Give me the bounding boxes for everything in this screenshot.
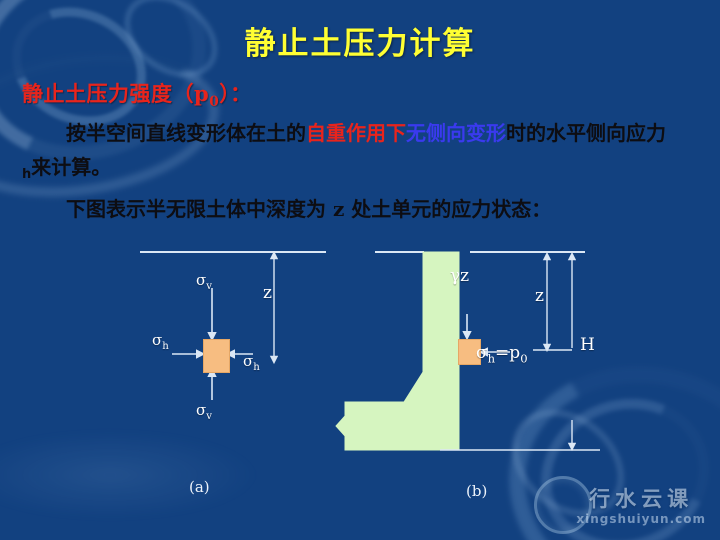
sigma-h-right-base: σ (243, 352, 253, 370)
section-heading: 静止土压力强度（p0）： (22, 78, 252, 110)
p-subscript-0: 0 (520, 351, 527, 365)
p1-part5: 来计算。 (31, 155, 111, 179)
depth-label-a: z (263, 283, 272, 303)
heading-prefix: 静止土压力强度（ (22, 82, 194, 106)
heading-suffix: ）： (219, 82, 252, 106)
slide-title: 静止土压力计算 (0, 18, 720, 63)
gamma-z-label: γz (450, 266, 469, 286)
caption-b: (b) (466, 482, 487, 500)
watermark-domain-text: xingshuiyun.com (576, 512, 706, 526)
p2-variable-z: z (333, 197, 344, 221)
body-text-block: 按半空间直线变形体在土的自重作用下无侧向变形时的水平侧向应力h来计算。 下图表示… (22, 116, 706, 226)
p0-symbol: p0 (194, 81, 219, 106)
sigma-v-top-base: σ (196, 271, 206, 289)
equals-p: =p (495, 343, 520, 363)
figure-area: σv σv σh σh z γz σh=p0 z H (a) (b) (0, 240, 720, 500)
p1-emphasis-violet: 无侧向变形 (406, 121, 506, 145)
sigma-v-bottom-label: σv (196, 401, 212, 422)
p2-part1: 下图表示半无限土体中深度为 (66, 197, 326, 221)
paragraph-1: 按半空间直线变形体在土的自重作用下无侧向变形时的水平侧向应力h来计算。 (22, 116, 706, 192)
height-label-h: H (580, 335, 595, 355)
sigma-h-right-sub: h (253, 362, 260, 373)
sigma-h-right-label: σh (243, 352, 260, 373)
sigma-h-left-base: σ (152, 331, 162, 349)
depth-label-b: z (535, 286, 544, 306)
p0-subscript: 0 (209, 94, 219, 110)
paragraph-2: 下图表示半无限土体中深度为 z 处土单元的应力状态： (22, 192, 706, 226)
slide-canvas: 静止土压力计算 静止土压力强度（p0）： 按半空间直线变形体在土的自重作用下无侧… (0, 0, 720, 540)
p2-part2: 处土单元的应力状态： (351, 197, 551, 221)
figure-vector-layer (0, 240, 720, 500)
sigma-h-wall-base: σ (476, 343, 488, 363)
sigma-h-wall-sub: h (488, 351, 495, 365)
sigma-v-top-sub: v (206, 281, 212, 292)
retaining-wall-shape (336, 252, 459, 450)
soil-element-a (203, 339, 230, 373)
p1-part4: 时的水平侧向应力 (506, 121, 666, 145)
caption-a: (a) (189, 478, 210, 496)
sigma-h-equals-p0-label: σh=p0 (476, 343, 528, 365)
sigma-subscript-h: h (22, 167, 31, 182)
p1-emphasis-red: 自重作用下 (306, 121, 406, 145)
sigma-h-left-sub: h (162, 341, 169, 352)
sigma-v-top-label: σv (196, 271, 212, 292)
p0-base: p (194, 81, 209, 106)
sigma-h-left-label: σh (152, 331, 169, 352)
p1-part1: 按半空间直线变形体在土的 (66, 121, 306, 145)
sigma-v-bottom-base: σ (196, 401, 206, 419)
watermark-globe-icon (534, 476, 592, 534)
sigma-v-bottom-sub: v (206, 411, 212, 422)
